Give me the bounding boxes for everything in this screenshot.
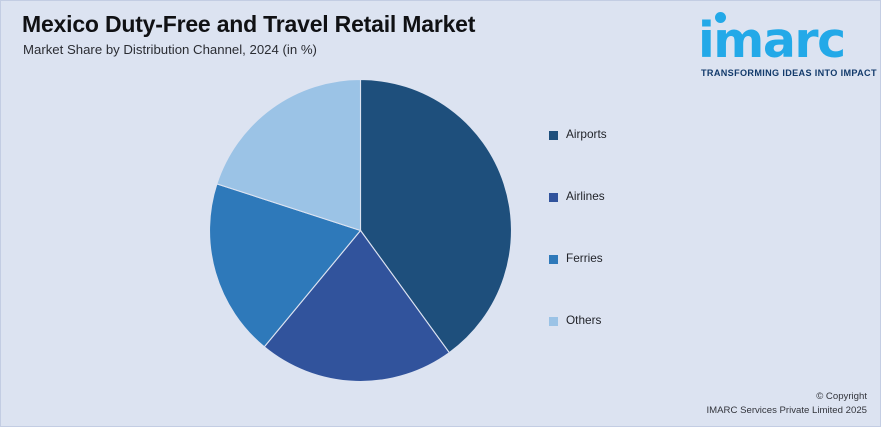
logo-tagline: TRANSFORMING IDEAS INTO IMPACT bbox=[701, 68, 877, 78]
legend-swatch-icon bbox=[549, 255, 558, 264]
page-title: Mexico Duty-Free and Travel Retail Marke… bbox=[22, 11, 475, 38]
legend-item-label: Airlines bbox=[566, 189, 605, 203]
chart-legend: Airports Airlines Ferries Others bbox=[549, 127, 719, 375]
imarc-logo: imarc TRANSFORMING IDEAS INTO IMPACT bbox=[698, 10, 873, 80]
pie-chart-svg bbox=[209, 79, 512, 382]
legend-item-ferries[interactable]: Ferries bbox=[549, 251, 719, 313]
legend-swatch-icon bbox=[549, 131, 558, 140]
legend-item-label: Airports bbox=[566, 127, 607, 141]
logo-wordmark: imarc bbox=[698, 16, 845, 65]
legend-swatch-icon bbox=[549, 317, 558, 326]
footer-copyright: © Copyright IMARC Services Private Limit… bbox=[707, 390, 868, 417]
legend-item-airlines[interactable]: Airlines bbox=[549, 189, 719, 251]
legend-item-label: Others bbox=[566, 313, 601, 327]
pie-slice-group bbox=[209, 80, 511, 382]
pie-chart bbox=[209, 79, 512, 382]
legend-item-label: Ferries bbox=[566, 251, 603, 265]
page-subtitle: Market Share by Distribution Channel, 20… bbox=[23, 42, 317, 57]
legend-item-others[interactable]: Others bbox=[549, 313, 719, 375]
copyright-line: © Copyright bbox=[707, 390, 868, 404]
legend-swatch-icon bbox=[549, 193, 558, 202]
legend-item-airports[interactable]: Airports bbox=[549, 127, 719, 189]
company-line: IMARC Services Private Limited 2025 bbox=[707, 404, 868, 418]
chart-canvas: Mexico Duty-Free and Travel Retail Marke… bbox=[0, 0, 881, 427]
